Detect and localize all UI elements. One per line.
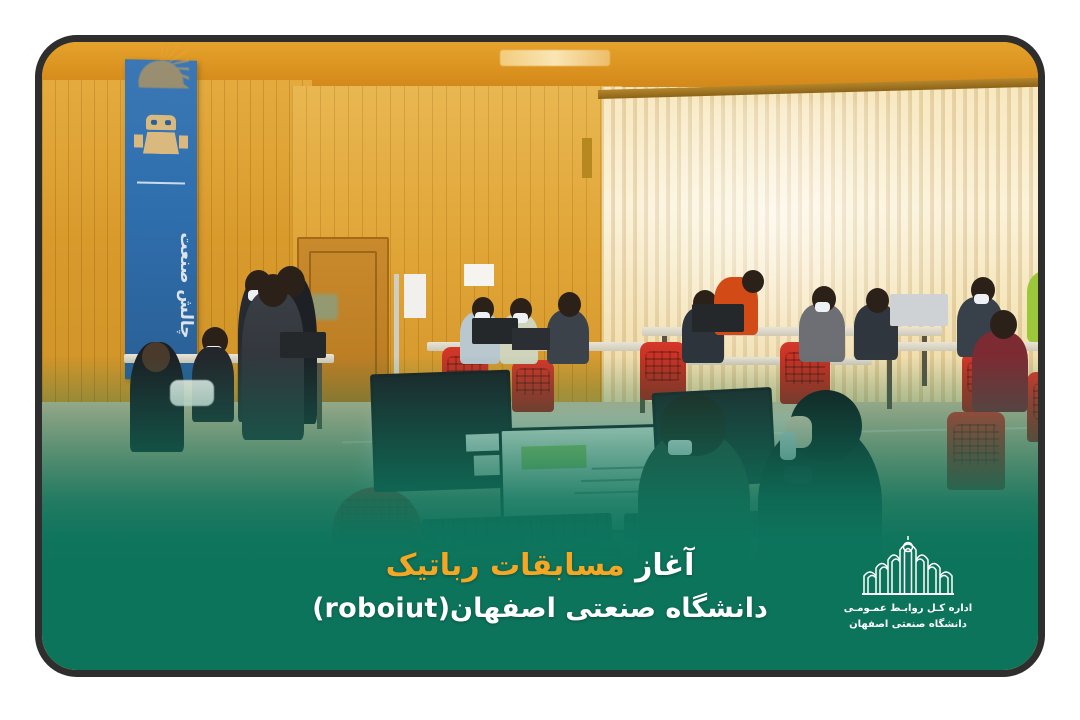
logo-line-2: دانشگاه صنعتی اصفهان [838,617,978,633]
logo-line-1: اداره کـل روابـط عمـومـی [838,601,978,617]
wall-paper [464,264,494,286]
screen-line [575,491,646,495]
face-mask [668,440,692,455]
person-head [742,270,764,293]
robot-arm [179,135,188,148]
face-mask [815,302,830,312]
person-staff [1027,270,1038,342]
standee-text: چالش صنعت [125,209,197,361]
public-relations-logo: اداره کـل روابـط عمـومـی دانشگاه صنعتی ا… [838,534,978,632]
laptop [692,304,744,332]
person-head [866,288,889,313]
gear-icon [133,45,189,88]
laptop [890,294,948,326]
person-head [558,292,581,317]
iut-minaret-logo-icon [852,534,964,596]
mobile-phone [780,432,796,460]
person-head [990,310,1017,339]
chair [1027,372,1038,442]
standee-banner: چالش صنعت [125,59,197,381]
person [547,310,589,364]
wall-fixture [582,138,592,178]
robot-arm [134,134,143,147]
screen-highlight [522,445,587,469]
poster-frame: چالش صنعت [35,35,1045,677]
wristwatch [784,466,812,484]
divider [137,181,185,184]
person [972,332,1028,412]
ceiling-light [500,50,610,66]
poster-inner: چالش صنعت [42,42,1038,670]
laptop [280,332,326,358]
person-head [258,274,288,307]
whiteboard [404,274,426,318]
monitor-label [466,433,503,451]
plastic-bag [170,380,214,406]
robot-head [146,115,176,131]
chair [947,412,1005,490]
person-head [142,342,170,372]
robot-eye [165,120,171,125]
desk-leg [317,363,322,429]
robot-kit [512,328,550,350]
robot-eye [151,120,157,125]
caption-word-highlight: مسابقات رباتیک [386,548,625,583]
screen-line [581,478,646,482]
robot-body [143,132,179,155]
caption-word-white: آغاز [635,548,694,583]
robot-icon [139,115,183,164]
person [799,304,845,362]
screen-line [592,466,647,469]
chair [512,360,554,412]
face-mask [974,294,989,304]
person-plaid [242,292,304,440]
